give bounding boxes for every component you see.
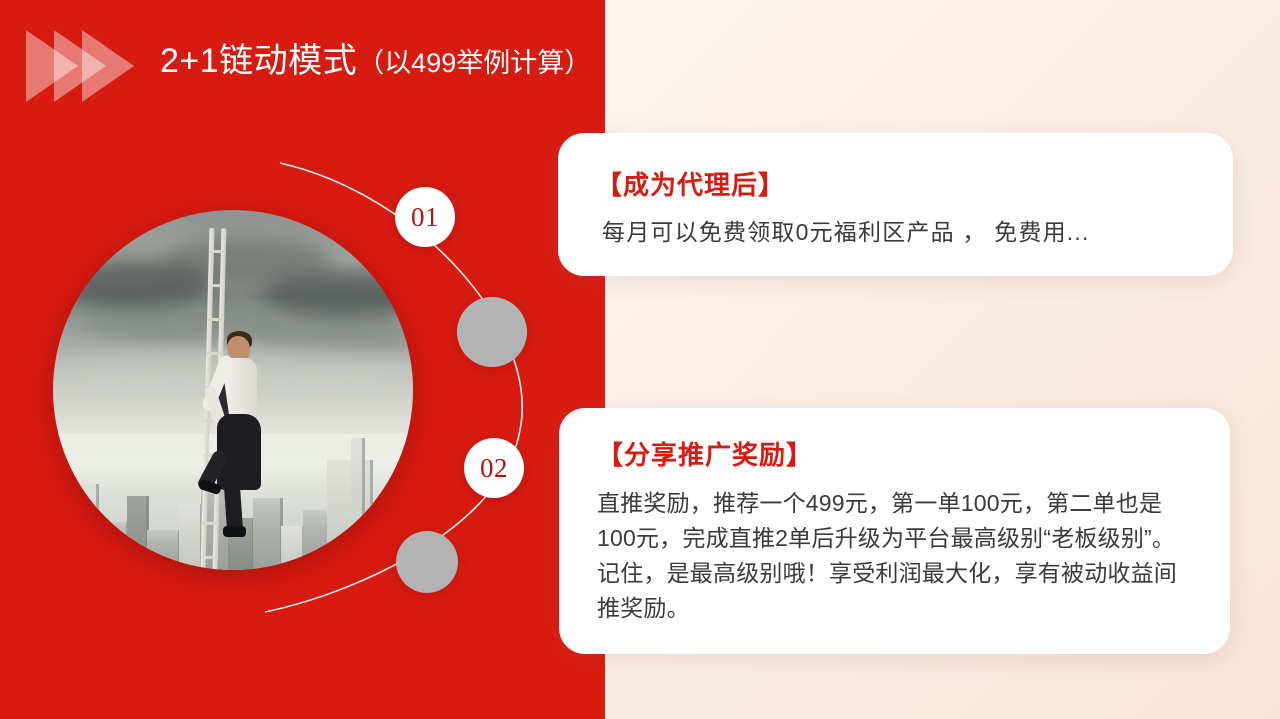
step-badge-01-label: 01	[411, 202, 439, 233]
slide-canvas: 2+1链动模式（以499举例计算）	[0, 0, 1280, 719]
photo-building	[55, 512, 81, 570]
triple-arrow-icon	[26, 30, 156, 102]
info-card-1-body: 每月可以免费领取0元福利区产品 ， 免费用...	[602, 215, 1222, 250]
page-title-sub: （以499举例计算）	[357, 48, 591, 78]
step-badge-02-label: 02	[480, 453, 508, 484]
info-card-2[interactable]: 【分享推广奖励】 直推奖励，推荐一个499元，第一单100元，第二单也是100元…	[559, 408, 1230, 654]
photo-building	[327, 460, 373, 570]
step-badge-01[interactable]: 01	[395, 187, 455, 247]
man-shoe	[223, 526, 246, 537]
info-card-1[interactable]: 【成为代理后】 每月可以免费领取0元福利区产品 ， 免费用...	[558, 133, 1233, 276]
slide-header: 2+1链动模式（以499举例计算）	[0, 0, 605, 128]
ladder-rung	[208, 284, 225, 287]
photo-building	[127, 496, 149, 570]
photo-building	[79, 484, 99, 570]
page-title-main: 2+1链动模式	[160, 42, 357, 80]
node-dot-2	[396, 531, 458, 593]
ladder-rung	[201, 556, 218, 559]
photo-building	[147, 530, 181, 570]
arrow-triangle-3-icon	[82, 30, 134, 102]
info-card-2-body: 直推奖励，推荐一个499元，第一单100元，第二单也是100元，完成直推2单后升…	[597, 486, 1197, 626]
ladder-rung	[209, 250, 226, 253]
photo-businessman	[203, 330, 283, 550]
hero-photo	[53, 210, 413, 570]
node-dot-1	[457, 297, 527, 367]
step-badge-02[interactable]: 02	[464, 438, 524, 498]
photo-cloud	[263, 270, 413, 318]
ladder-rung	[207, 318, 224, 321]
photo-building	[179, 504, 203, 570]
photo-building	[281, 526, 305, 570]
info-card-2-title: 【分享推广奖励】	[597, 435, 813, 472]
page-title: 2+1链动模式（以499举例计算）	[160, 44, 591, 78]
photo-spire	[351, 438, 365, 570]
info-card-1-title: 【成为代理后】	[596, 165, 785, 202]
photo-building	[99, 522, 129, 570]
